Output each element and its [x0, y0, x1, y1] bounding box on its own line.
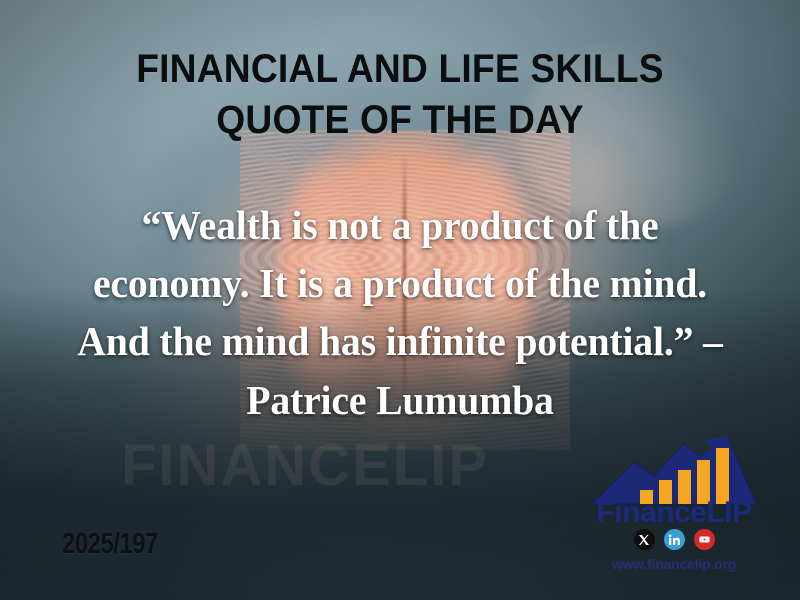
poster-canvas: FINANCELIP FINANCIAL AND LIFE SKILLS QUO… — [0, 0, 800, 600]
logo-wordmark: FinanceLIP — [588, 496, 760, 530]
quote-attribution: Patrice Lumumba — [28, 371, 773, 429]
day-code: 2025/197 — [62, 528, 158, 561]
linkedin-icon[interactable] — [664, 529, 685, 550]
watermark-text: FINANCELIP — [55, 432, 555, 499]
logo-chart-mark — [588, 424, 760, 506]
logo-website-url[interactable]: www.financelip.org — [588, 556, 760, 572]
x-icon[interactable] — [634, 529, 655, 550]
quote-line-1: “Wealth is not a product of the — [28, 196, 773, 254]
social-links[interactable] — [588, 529, 760, 550]
youtube-icon[interactable] — [694, 529, 715, 550]
page-title: FINANCIAL AND LIFE SKILLS QUOTE OF THE D… — [28, 44, 772, 146]
brand-logo[interactable]: FinanceLIP www.finance — [588, 424, 760, 584]
growth-chart-icon — [588, 424, 760, 506]
quote-line-3: And the mind has infinite potential.” – — [28, 312, 773, 370]
quote-line-2: economy. It is a product of the mind. — [28, 254, 773, 312]
page-title-line-1: FINANCIAL AND LIFE SKILLS — [28, 44, 772, 95]
page-title-line-2: QUOTE OF THE DAY — [28, 95, 772, 146]
quote-block: “Wealth is not a product of the economy.… — [28, 196, 773, 429]
